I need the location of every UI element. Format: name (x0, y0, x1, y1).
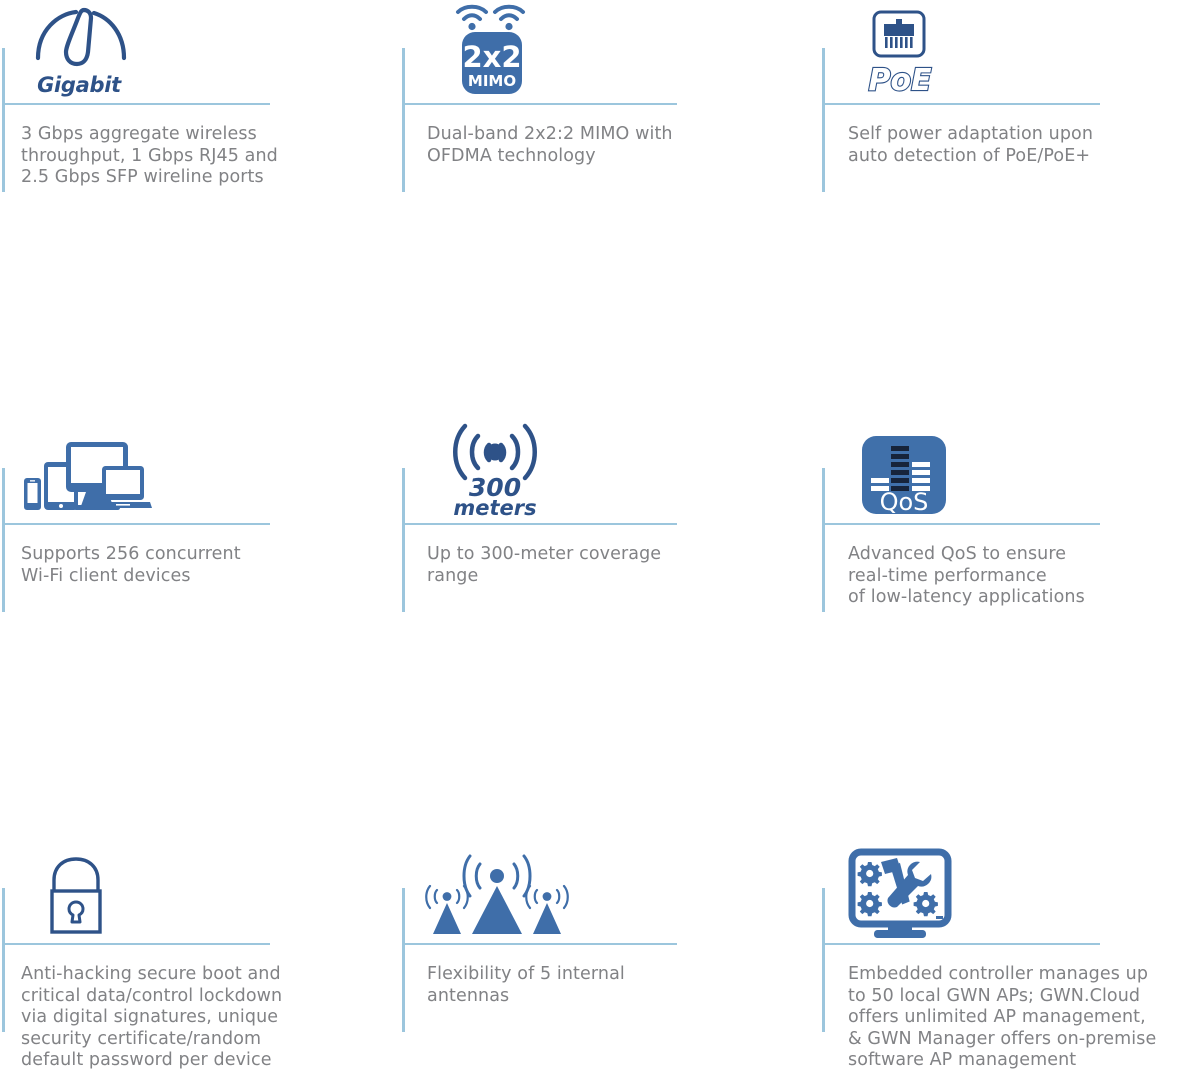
mimo-2x2-icon: 2x2 MIMO (448, 0, 548, 98)
cell-horizontal-rule (2, 943, 270, 945)
gigabit-icon-label: Gigabit (37, 73, 122, 97)
antenna-left (426, 886, 468, 934)
wifi-dot-left (468, 23, 475, 30)
feature-cell-antennas: Flexibility of 5 internal antennas (400, 420, 820, 660)
antennas-icon (422, 848, 572, 940)
feature-cell-coverage: 300 meters Up to 300-meter coverage rang… (400, 210, 820, 420)
cell-vertical-rule (2, 888, 5, 1032)
gigabit-drop-shape (66, 10, 91, 64)
feature-cell-poe: PoE Self power adaptation upon auto dete… (820, 0, 1200, 210)
rj45-pins (885, 37, 913, 48)
cell-horizontal-rule (402, 103, 677, 105)
cell-horizontal-rule (822, 103, 1100, 105)
controller-icon-area (844, 840, 960, 940)
cell-vertical-rule (402, 888, 405, 1032)
cell-vertical-rule (822, 48, 825, 192)
feature-cell-client-devices: Supports 256 concurrent Wi-Fi client dev… (0, 210, 400, 420)
feature-description: Embedded controller manages up to 50 loc… (848, 964, 1156, 1072)
antenna-center (464, 856, 530, 934)
rj45-jack-body (884, 19, 914, 36)
feature-cell-mimo: 2x2 MIMO Dual-band 2x2:2 MIMO with OFDMA… (400, 0, 820, 210)
cell-vertical-rule (2, 48, 5, 192)
feature-description: Dual-band 2x2:2 MIMO with OFDMA technolo… (427, 124, 673, 167)
padlock-keyhole (69, 902, 83, 922)
feature-cell-gigabit: Gigabit 3 Gbps aggregate wireless throug… (0, 0, 400, 210)
poe-icon-label: PoE (868, 63, 932, 98)
padlock-icon (32, 850, 122, 940)
poe-icon-area: PoE (856, 0, 960, 98)
feature-description: Self power adaptation upon auto detectio… (848, 124, 1093, 167)
wifi-arcs-left (458, 7, 486, 19)
antenna-right (526, 886, 568, 934)
gigabit-icon: Gigabit (22, 2, 144, 98)
gigabit-icon-area: Gigabit (22, 0, 144, 98)
cell-vertical-rule (822, 888, 825, 1032)
feature-cell-controller: Embedded controller manages up to 50 loc… (820, 420, 1200, 660)
wifi-dot-right (505, 23, 512, 30)
feature-grid: Gigabit 3 Gbps aggregate wireless throug… (0, 0, 1200, 660)
feature-description: 3 Gbps aggregate wireless throughput, 1 … (21, 124, 278, 189)
monitor-stand (874, 930, 926, 938)
monitor-indicator (936, 916, 943, 919)
antennas-icon-area (422, 840, 572, 940)
feature-description: Anti-hacking secure boot and critical da… (21, 964, 282, 1072)
mimo-icon-area: 2x2 MIMO (448, 0, 548, 98)
mimo-icon-label: 2x2 (462, 40, 521, 74)
feature-cell-qos: QoS Advanced QoS to ensure real-time per… (820, 210, 1200, 420)
poe-icon: PoE (856, 6, 960, 98)
cell-horizontal-rule (2, 103, 270, 105)
mimo-icon-sublabel: MIMO (468, 72, 516, 90)
padlock-body (52, 891, 100, 932)
padlock-icon-area (32, 840, 122, 940)
controller-management-icon (844, 844, 960, 940)
cell-horizontal-rule (402, 943, 677, 945)
cell-horizontal-rule (822, 943, 1100, 945)
wifi-arcs-right (495, 7, 523, 19)
cell-vertical-rule (402, 48, 405, 192)
padlock-shackle (54, 859, 98, 892)
feature-description: Flexibility of 5 internal antennas (427, 964, 625, 1007)
feature-cell-security: Anti-hacking secure boot and critical da… (0, 420, 400, 660)
